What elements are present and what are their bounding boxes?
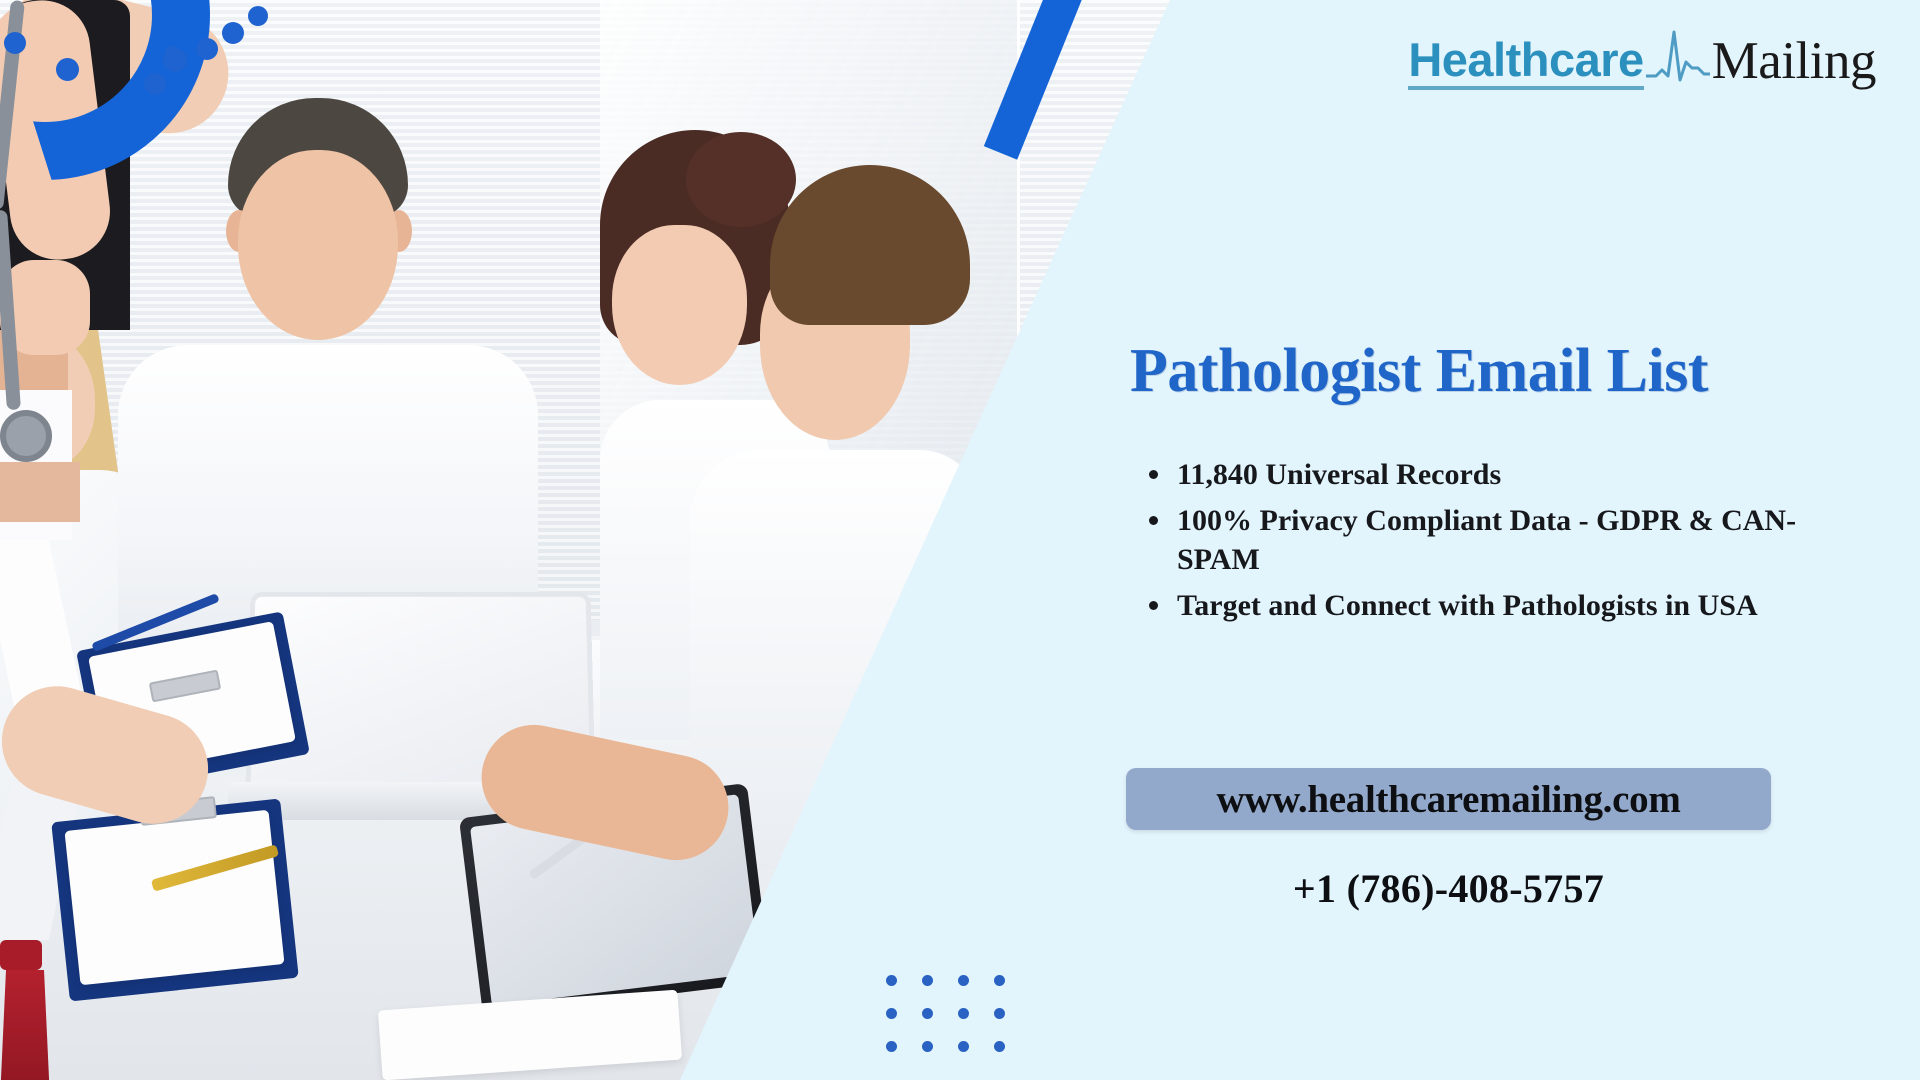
arc-dot-3 (144, 73, 166, 95)
website-cta-button[interactable]: www.healthcaremailing.com (1126, 768, 1771, 830)
grid-dot (958, 975, 969, 986)
arc-dot-7 (222, 22, 244, 44)
grid-dot (958, 1041, 969, 1052)
grid-dot (886, 1041, 897, 1052)
grid-dot (922, 975, 933, 986)
phone-number[interactable]: +1 (786)-408-5757 (1126, 865, 1771, 912)
arc-dot-2 (56, 58, 79, 81)
grid-dot (994, 1041, 1005, 1052)
arc-dot-8 (248, 6, 268, 26)
list-item: 100% Privacy Compliant Data - GDPR & CAN… (1143, 501, 1823, 579)
brand-logo[interactable]: Healthcare Mailing (1408, 24, 1876, 90)
grid-dot (994, 975, 1005, 986)
list-item: 11,840 Universal Records (1143, 455, 1823, 494)
grid-dot (994, 1008, 1005, 1019)
heartbeat-pulse-icon (1646, 24, 1710, 88)
grid-dot (886, 975, 897, 986)
logo-primary-text: Healthcare (1408, 36, 1643, 90)
arc-dot-6 (196, 38, 218, 60)
arc-dot-1 (4, 32, 26, 54)
dot-grid-decoration (886, 975, 1030, 1074)
clipboard-left-paper (64, 810, 284, 986)
website-url-label: www.healthcaremailing.com (1216, 777, 1680, 822)
grid-dot (922, 1008, 933, 1019)
list-item: Target and Connect with Pathologists in … (1143, 586, 1823, 625)
promotional-banner: Healthcare Mailing Pathologist Email Lis… (0, 0, 1920, 1080)
arc-dot-5 (163, 48, 187, 72)
grid-dot (886, 1008, 897, 1019)
feature-list: 11,840 Universal Records 100% Privacy Co… (1143, 455, 1823, 632)
grid-dot (922, 1041, 933, 1052)
logo-secondary-text: Mailing (1712, 35, 1876, 90)
grid-dot (958, 1008, 969, 1019)
page-title: Pathologist Email List (1130, 336, 1708, 407)
